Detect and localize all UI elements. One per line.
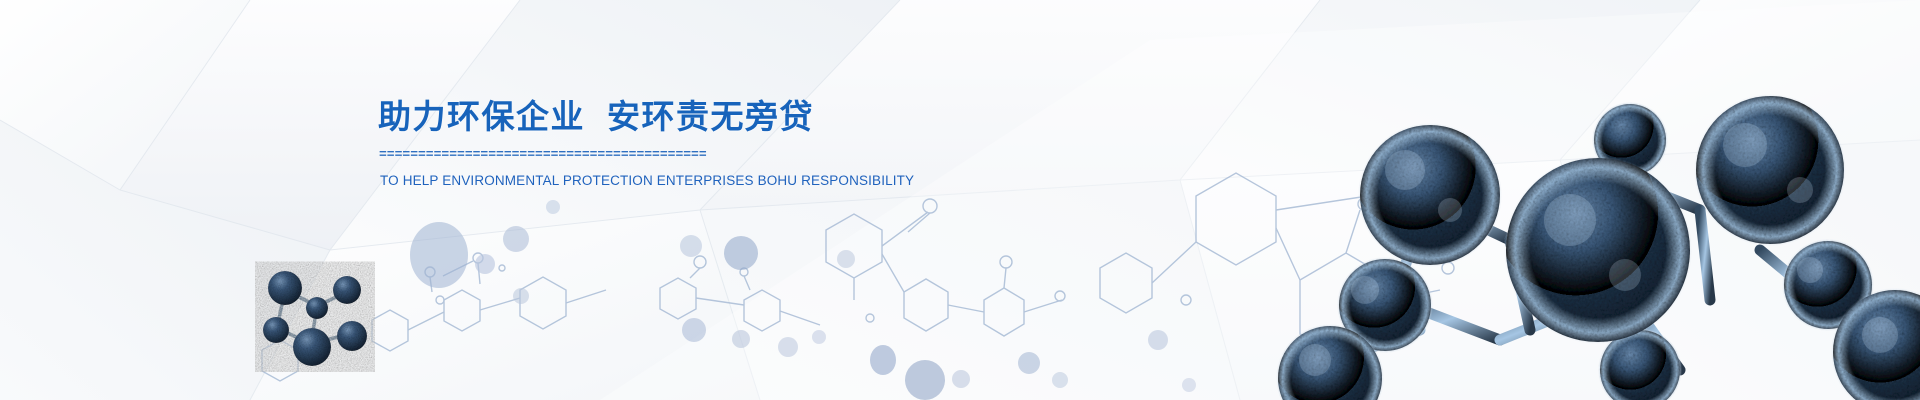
bokeh-circle bbox=[778, 337, 798, 357]
molecule-sphere bbox=[1694, 94, 1846, 246]
bokeh-circle bbox=[503, 226, 529, 252]
page-subtitle: TO HELP ENVIRONMENTAL PROTECTION ENTERPR… bbox=[380, 173, 1018, 188]
bokeh-circle bbox=[475, 254, 495, 274]
bokeh-circle bbox=[870, 345, 896, 375]
bokeh-circle bbox=[732, 330, 750, 348]
bokeh-circle bbox=[513, 288, 529, 304]
banner: 助力环保企业安环责无旁贷 ===========================… bbox=[0, 0, 1920, 400]
bokeh-circle bbox=[724, 236, 758, 270]
bokeh-circle bbox=[680, 235, 702, 257]
bokeh-circle bbox=[837, 250, 855, 268]
bokeh-circle bbox=[1018, 352, 1040, 374]
molecule-sphere-cluster-small bbox=[255, 252, 375, 372]
bokeh-circle bbox=[1148, 330, 1168, 350]
bokeh-circle bbox=[410, 222, 468, 288]
bokeh-circle bbox=[952, 370, 970, 388]
bokeh-circle bbox=[1052, 372, 1068, 388]
banner-text-block: 助力环保企业安环责无旁贷 ===========================… bbox=[378, 96, 1018, 188]
bokeh-circle bbox=[1182, 378, 1196, 392]
divider: ========================================… bbox=[379, 151, 825, 158]
headline-part1: 助力环保企业 bbox=[378, 98, 585, 135]
bokeh-circle bbox=[905, 360, 945, 400]
bokeh-circle bbox=[812, 330, 826, 344]
molecule-sphere bbox=[1358, 123, 1502, 267]
page-title: 助力环保企业安环责无旁贷 bbox=[378, 96, 1018, 137]
bokeh-circle bbox=[546, 200, 560, 214]
headline-part2: 安环责无旁贷 bbox=[607, 98, 814, 135]
molecule-sphere-cluster bbox=[1200, 0, 1920, 400]
bokeh-circle bbox=[682, 318, 706, 342]
molecule-sphere bbox=[1504, 156, 1692, 344]
